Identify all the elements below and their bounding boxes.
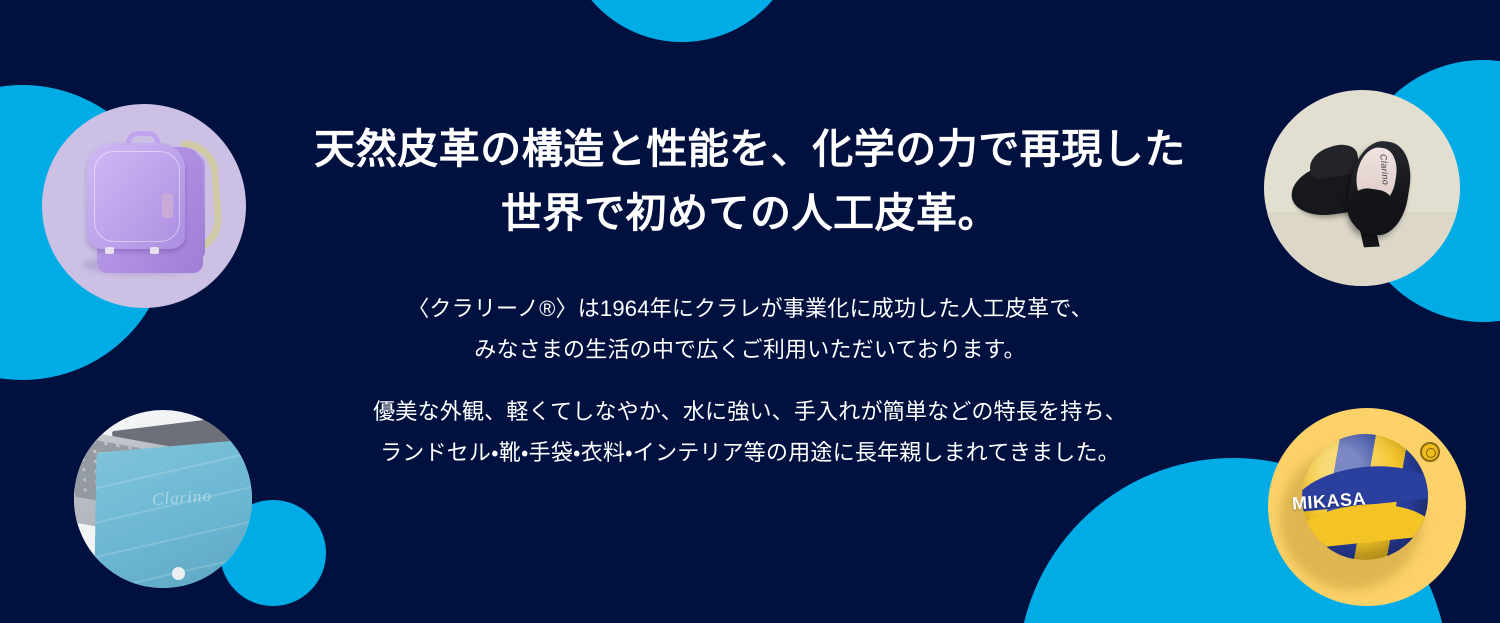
hero-features-text: 優美な外観、軽くてしなやか、水に強い、手入れが簡単などの特長を持ち、 ランドセル… [373, 392, 1127, 473]
randoseru-stud [105, 247, 114, 254]
photo-volleyball: MIKASA [1268, 408, 1466, 606]
laptop-sleeve-clip [172, 567, 185, 580]
photo-randoseru [42, 104, 246, 308]
hero-lead-text: 〈クラリーノ®〉は1964年にクラレが事業化に成功した人工皮革で、 みなさまの生… [407, 289, 1093, 370]
laptop-sleeve [94, 438, 252, 588]
decor-circle-top [563, 0, 801, 42]
page-title: 天然皮革の構造と性能を、化学の力で再現した 世界で初めての人工皮革。 [314, 118, 1186, 245]
photo-pumps: Clarino [1264, 90, 1460, 286]
randoseru-stud [150, 247, 159, 254]
volleyball-badge-icon [1420, 442, 1440, 462]
randoseru-lock [162, 194, 172, 218]
hero-banner: Clarino Clarino MIKASA 天然皮革の構造と性能を、化学の力で… [0, 0, 1500, 623]
photo-laptop-sleeve: Clarino [74, 410, 252, 588]
